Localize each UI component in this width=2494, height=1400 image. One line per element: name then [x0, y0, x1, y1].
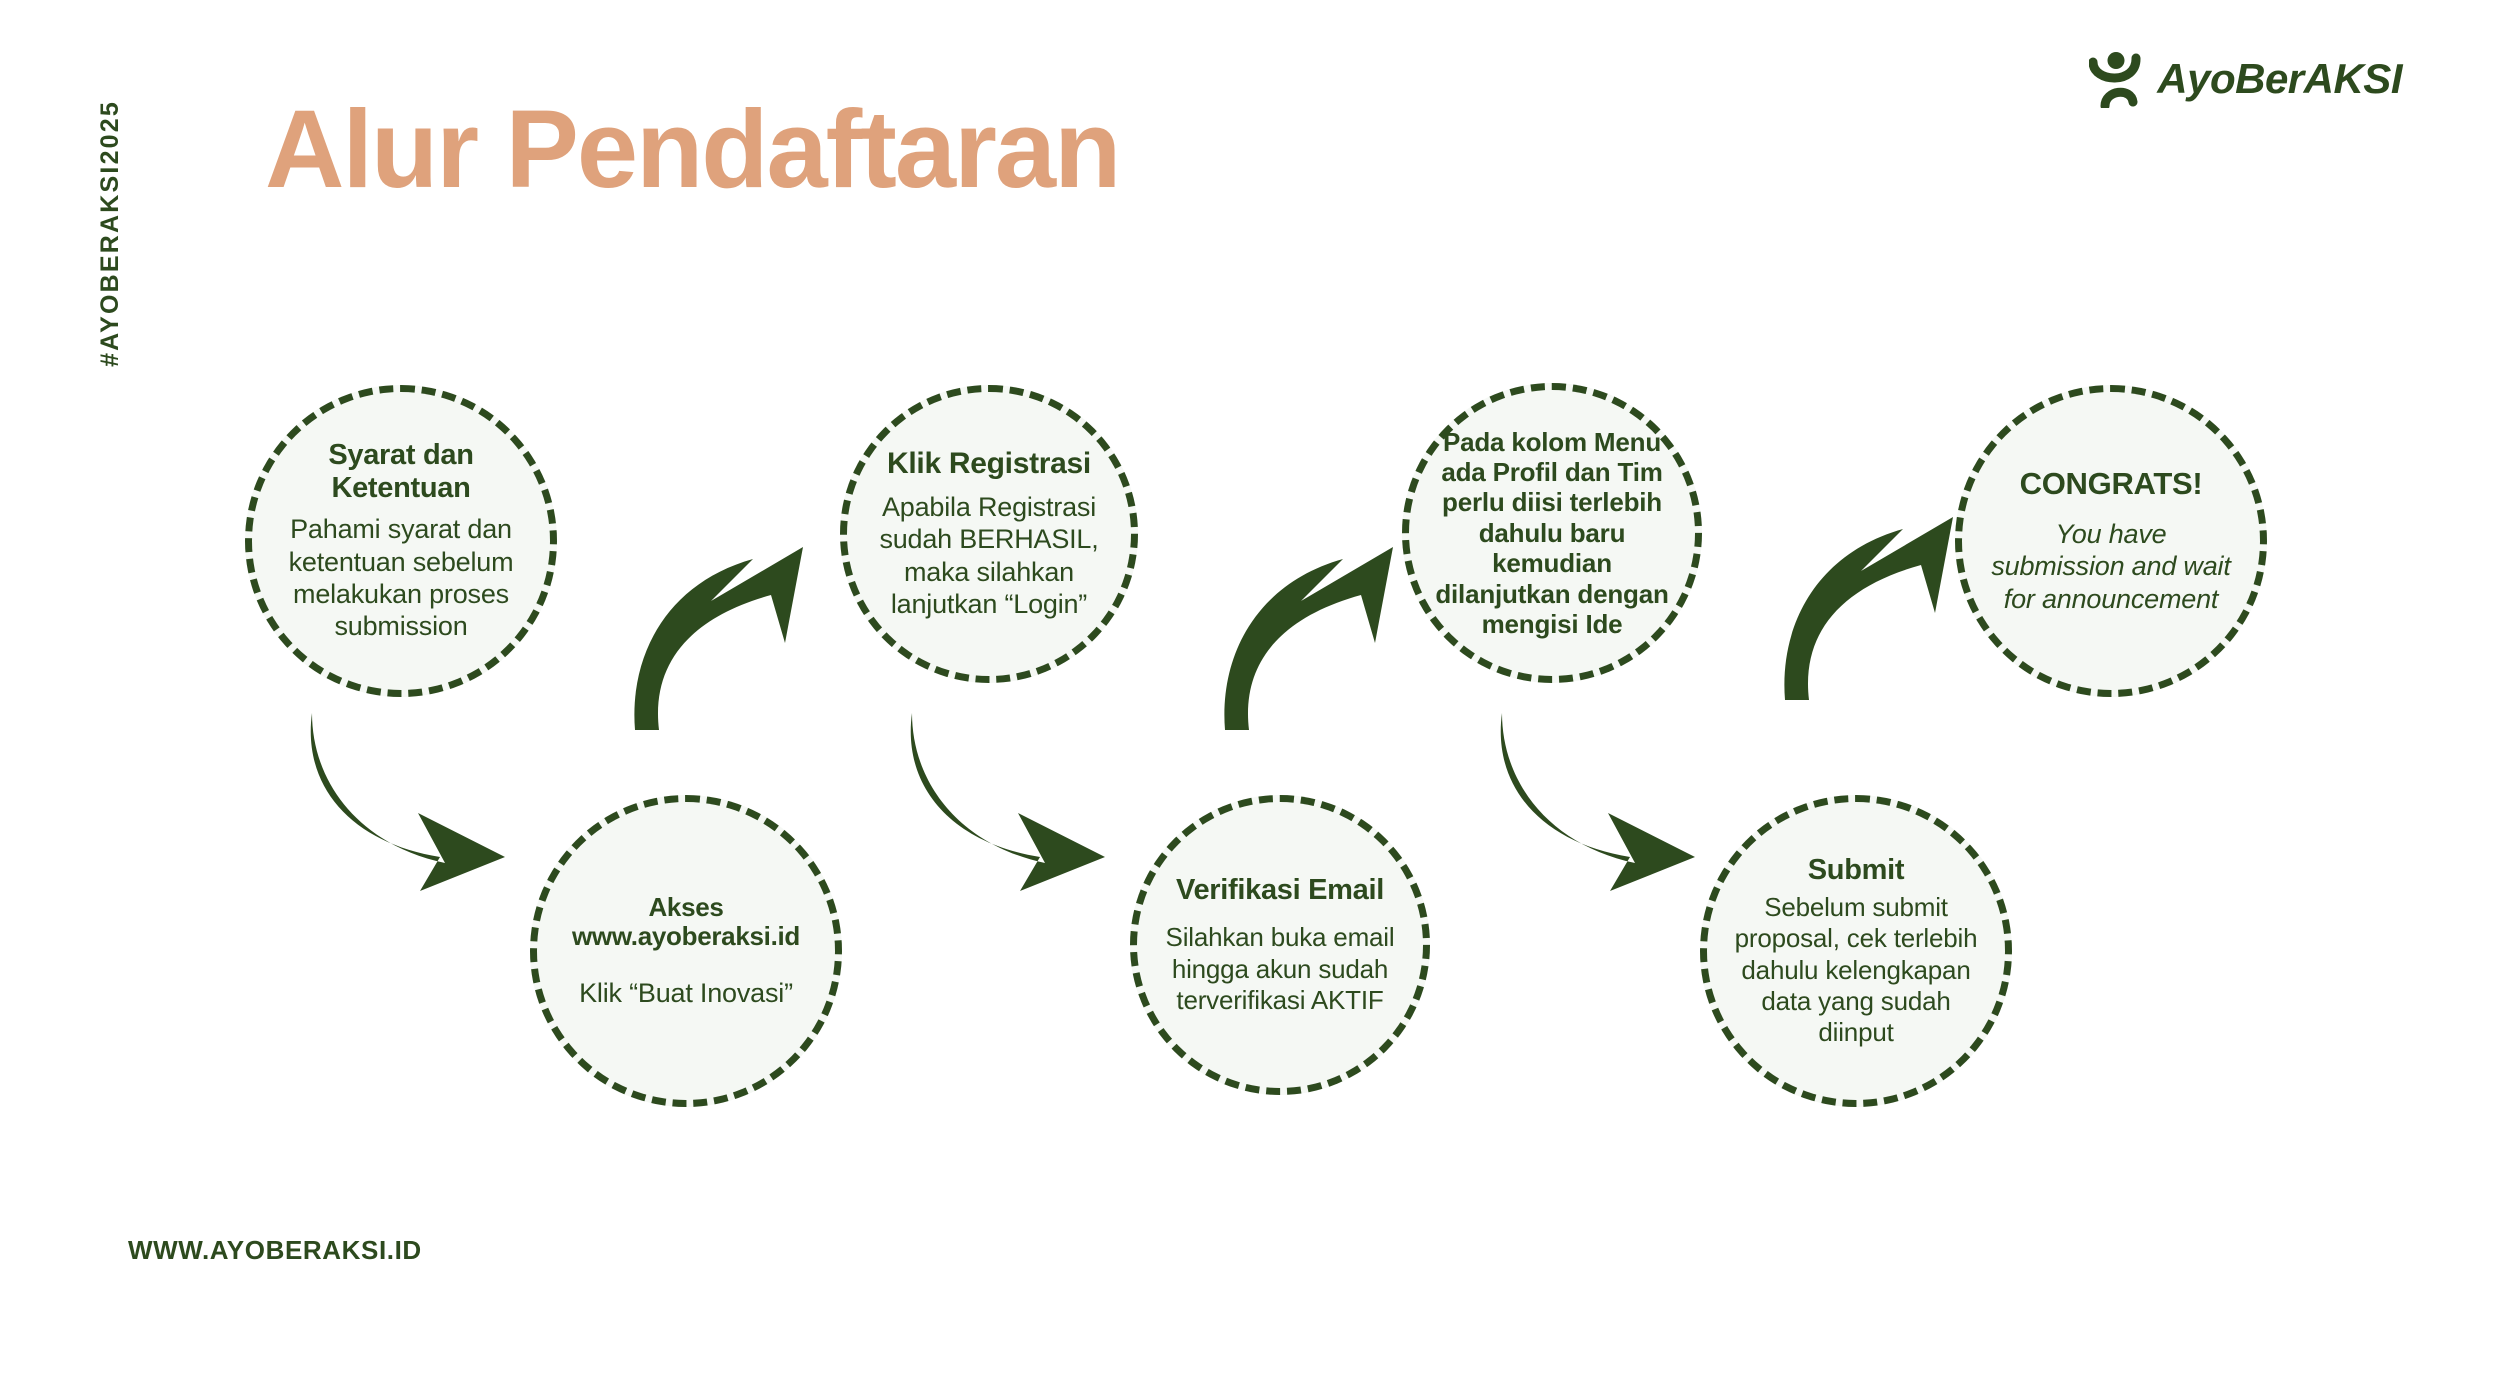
logo-wordmark: AyoBerAKSI	[2157, 55, 2402, 103]
step-circle-submit[interactable]: Submit Sebelum submit proposal, cek terl…	[1700, 795, 2012, 1107]
step-circle-congrats[interactable]: CONGRATS! You have submission and wait f…	[1955, 385, 2267, 697]
slide-canvas: #AYOBERAKSI2025 Alur Pendaftaran AyoBerA…	[0, 0, 2494, 1400]
step-circle-klik-registrasi[interactable]: Klik Registrasi Apabila Registrasi sudah…	[840, 385, 1138, 683]
step-body: Pada kolom Menu ada Profil dan Tim perlu…	[1423, 427, 1681, 640]
step-body: Pahami syarat dan ketentuan sebelum mela…	[278, 513, 524, 643]
step-circle-syarat-dan-ketentuan[interactable]: Syarat dan Ketentuan Pahami syarat dan k…	[245, 385, 557, 697]
arrow-down-right-icon-1	[300, 705, 540, 895]
step-title: CONGRATS!	[2020, 467, 2203, 502]
step-body: You have submission and wait for announc…	[1988, 518, 2234, 615]
step-body: Apabila Registrasi sudah BERHASIL, maka …	[873, 491, 1105, 621]
arrow-up-right-icon-1	[625, 525, 840, 740]
person-figure-icon	[2089, 50, 2145, 108]
step-title: Klik Registrasi	[887, 447, 1091, 481]
hashtag-side-label: #AYOBERAKSI2025	[96, 100, 125, 367]
step-circle-akses-website[interactable]: Akses www.ayoberaksi.id Klik “Buat Inova…	[530, 795, 842, 1107]
step-circle-profil-dan-tim[interactable]: Pada kolom Menu ada Profil dan Tim perlu…	[1402, 383, 1702, 683]
arrow-up-right-icon-2	[1215, 525, 1430, 740]
step-circle-verifikasi-email[interactable]: Verifikasi Email Silahkan buka email hin…	[1130, 795, 1430, 1095]
arrow-down-right-icon-2	[900, 705, 1140, 895]
footer-url: WWW.AYOBERAKSI.ID	[128, 1235, 422, 1266]
page-title: Alur Pendaftaran	[265, 86, 1119, 213]
step-body: Sebelum submit proposal, cek terlebih da…	[1721, 892, 1991, 1048]
arrow-down-right-icon-3	[1490, 705, 1730, 895]
step-title: Akses www.ayoberaksi.id	[563, 893, 809, 951]
step-title: Verifikasi Email	[1176, 874, 1384, 906]
step-title: Submit	[1808, 854, 1904, 886]
step-body: Klik “Buat Inovasi”	[579, 977, 793, 1009]
brand-logo: AyoBerAKSI	[2089, 50, 2402, 108]
step-body: Silahkan buka email hingga akun sudah te…	[1163, 922, 1397, 1016]
step-title: Syarat dan Ketentuan	[278, 439, 524, 504]
